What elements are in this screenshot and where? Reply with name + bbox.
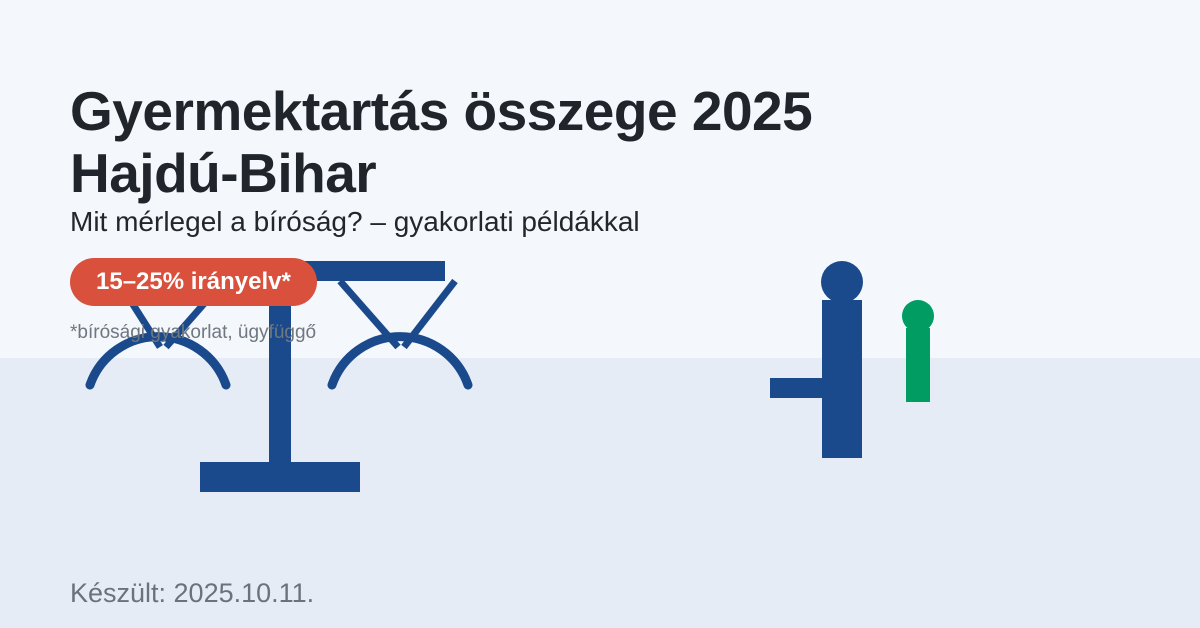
status-badge-label: 15–25% irányelv*: [96, 268, 291, 296]
footnote-text: *bírósági gyakorlat, ügyfüggő: [70, 322, 316, 344]
text-layer: Gyermektartás összege 2025 Hajdú-Bihar M…: [0, 0, 1200, 628]
infographic-canvas: Gyermektartás összege 2025 Hajdú-Bihar M…: [0, 0, 1200, 628]
created-date: Készült: 2025.10.11.: [70, 578, 314, 609]
page-subtitle: Mit mérlegel a bíróság? – gyakorlati pél…: [70, 205, 970, 239]
page-title: Gyermektartás összege 2025 Hajdú-Bihar: [70, 80, 1030, 204]
status-badge: 15–25% irányelv*: [70, 258, 317, 306]
